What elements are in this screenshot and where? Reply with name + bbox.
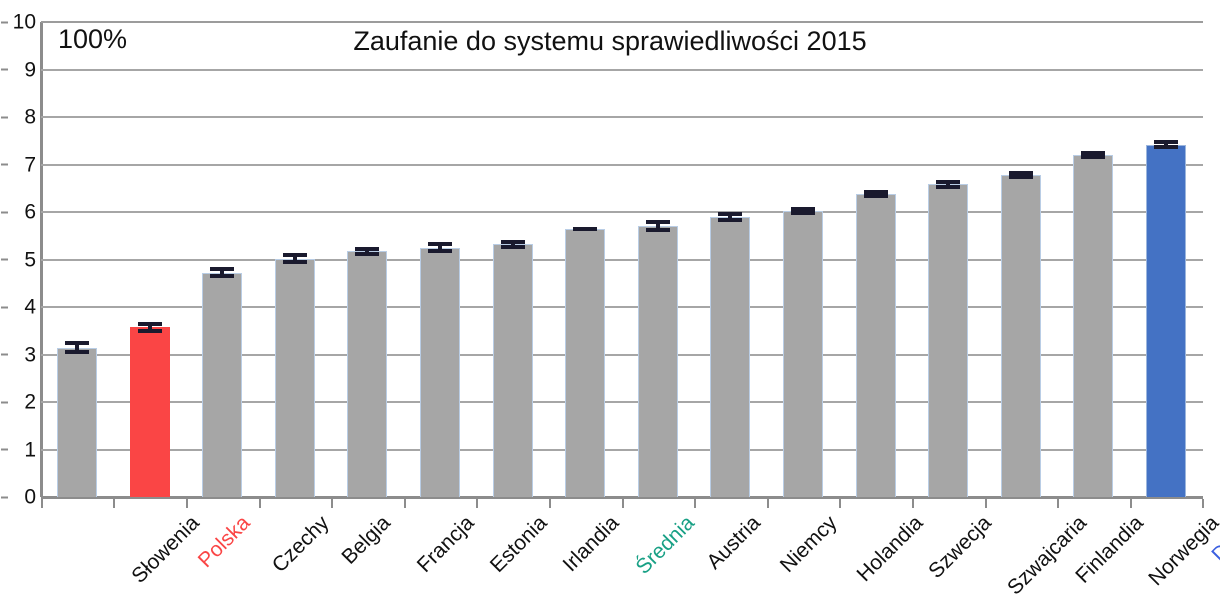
x-axis-tick-mark — [186, 499, 188, 508]
x-axis-label-0: Słowenia — [128, 512, 203, 587]
bar-10[interactable] — [783, 211, 823, 497]
bar-0[interactable] — [57, 348, 97, 497]
bar-6[interactable] — [493, 244, 533, 497]
bar-15[interactable] — [1146, 145, 1186, 497]
y-axis-tick-label: 8 — [8, 107, 36, 128]
error-bar-cap-upper — [138, 322, 162, 326]
plot-area — [41, 22, 1203, 497]
y-axis-tick-mark — [1, 449, 8, 451]
y-axis-tick-mark — [1, 354, 8, 356]
x-axis-label-7: Średnia — [632, 512, 698, 578]
y-axis-tick-mark — [1, 164, 8, 166]
bar-13[interactable] — [1001, 175, 1041, 497]
error-bar-9 — [710, 212, 750, 222]
error-bar-cap-lower — [355, 252, 379, 256]
x-axis-tick-mark — [1130, 499, 1132, 508]
x-axis-tick-mark — [404, 499, 406, 508]
error-bar-cap-lower — [283, 260, 307, 264]
y-axis-tick-mark — [1, 496, 8, 498]
error-bar-cap-lower — [138, 329, 162, 333]
error-bar-cap-lower — [65, 350, 89, 354]
error-bar-1 — [130, 322, 170, 333]
y-axis-tick-mark — [1, 211, 8, 213]
y-axis-tick-mark — [1, 259, 8, 261]
x-axis-label-11: Szwecja — [924, 512, 994, 582]
chart-container: Zaufanie do systemu sprawiedliwości 2015… — [0, 0, 1220, 608]
error-bar-10 — [783, 207, 823, 216]
x-axis-label-3: Belgia — [338, 512, 394, 568]
error-bar-cap-lower — [428, 249, 452, 253]
y-axis-tick-label: 2 — [8, 392, 36, 413]
gridline — [41, 69, 1203, 71]
error-bar-8 — [638, 220, 678, 232]
error-bar-cap-upper — [791, 207, 815, 211]
error-bar-cap-upper — [1081, 151, 1105, 155]
y-axis-tick-mark — [1, 69, 8, 71]
y-axis-tick-label: 6 — [8, 202, 36, 223]
gridline — [41, 116, 1203, 118]
error-bar-6 — [493, 240, 533, 250]
x-axis-label-12: Szwajcaria — [1004, 512, 1091, 599]
y-axis-tick-label: 5 — [8, 249, 36, 270]
error-bar-0 — [57, 341, 97, 354]
error-bar-15 — [1146, 140, 1186, 149]
x-axis-tick-mark — [549, 499, 551, 508]
x-axis-tick-mark — [41, 499, 43, 508]
error-bar-cap-upper — [428, 242, 452, 246]
x-axis-label-6: Irlandia — [559, 512, 623, 576]
y-axis-tick-mark — [1, 401, 8, 403]
x-axis-label-2: Czechy — [269, 512, 333, 576]
error-bar-14 — [1073, 151, 1113, 160]
error-bar-13 — [1001, 171, 1041, 179]
error-bar-cap-lower — [791, 211, 815, 215]
y-axis-tick-mark — [1, 306, 8, 308]
y-axis-tick-label: 10 — [8, 12, 36, 33]
y-axis-tick-label: 3 — [8, 344, 36, 365]
error-bar-cap-lower — [646, 228, 670, 232]
x-axis-tick-mark — [1057, 499, 1059, 508]
x-axis-label-5: Estonia — [487, 512, 551, 576]
error-bar-cap-lower — [1009, 175, 1033, 179]
error-bar-cap-lower — [936, 185, 960, 189]
bar-2[interactable] — [202, 273, 242, 497]
y-axis-tick-label: 7 — [8, 154, 36, 175]
gridline — [41, 164, 1203, 166]
x-axis-tick-mark — [259, 499, 261, 508]
bar-11[interactable] — [856, 194, 896, 497]
error-bar-cap-lower — [501, 245, 525, 249]
error-bar-cap-upper — [718, 212, 742, 216]
bar-9[interactable] — [710, 217, 750, 497]
error-bar-2 — [202, 267, 242, 278]
y-axis-tick-mark — [1, 21, 8, 23]
error-bar-cap-upper — [65, 341, 89, 345]
x-axis-tick-mark — [839, 499, 841, 508]
bar-12[interactable] — [928, 184, 968, 497]
x-axis-tick-mark — [694, 499, 696, 508]
y-axis-tick-label: 0 — [8, 487, 36, 508]
x-axis-label-4: Francja — [414, 512, 478, 576]
error-bar-cap-lower — [573, 227, 597, 231]
error-bar-cap-upper — [283, 253, 307, 257]
bar-4[interactable] — [347, 251, 387, 497]
bar-7[interactable] — [565, 229, 605, 497]
error-bar-cap-upper — [936, 180, 960, 184]
error-bar-3 — [275, 253, 315, 263]
x-axis-tick-mark — [767, 499, 769, 508]
x-axis-tick-mark — [622, 499, 624, 508]
x-axis-tick-mark — [476, 499, 478, 508]
y-axis-tick-mark — [1, 116, 8, 118]
error-bar-11 — [856, 190, 896, 199]
x-axis-label-1: Polska — [194, 512, 253, 571]
x-axis-tick-mark — [331, 499, 333, 508]
error-bar-cap-upper — [1154, 140, 1178, 144]
error-bar-cap-upper — [864, 190, 888, 194]
y-axis-tick-label: 4 — [8, 297, 36, 318]
bar-5[interactable] — [420, 248, 460, 497]
error-bar-cap-upper — [646, 220, 670, 224]
error-bar-cap-lower — [210, 274, 234, 278]
error-bar-cap-upper — [501, 240, 525, 244]
x-axis-tick-mark — [113, 499, 115, 508]
error-bar-cap-upper — [355, 247, 379, 251]
x-axis-tick-mark — [912, 499, 914, 508]
error-bar-4 — [347, 247, 387, 257]
error-bar-cap-lower — [1081, 155, 1105, 159]
x-axis-label-8: Austria — [703, 512, 764, 573]
error-bar-cap-lower — [864, 194, 888, 198]
error-bar-7 — [565, 227, 605, 231]
x-axis-label-9: Niemcy — [777, 512, 841, 576]
error-bar-cap-upper — [210, 267, 234, 271]
bar-14[interactable] — [1073, 155, 1113, 497]
bar-8[interactable] — [638, 226, 678, 497]
y-axis-tick-label: 1 — [8, 439, 36, 460]
error-bar-cap-lower — [718, 218, 742, 222]
error-bar-12 — [928, 180, 968, 190]
x-axis-tick-mark — [985, 499, 987, 508]
error-bar-5 — [420, 242, 460, 253]
y-axis-tick-label: 9 — [8, 59, 36, 80]
x-axis-label-10: Holandia — [853, 512, 926, 585]
bar-3[interactable] — [275, 259, 315, 497]
x-axis-tick-mark — [1202, 499, 1204, 508]
bar-1[interactable] — [130, 327, 170, 497]
gridline — [41, 21, 1203, 23]
error-bar-cap-lower — [1154, 145, 1178, 149]
